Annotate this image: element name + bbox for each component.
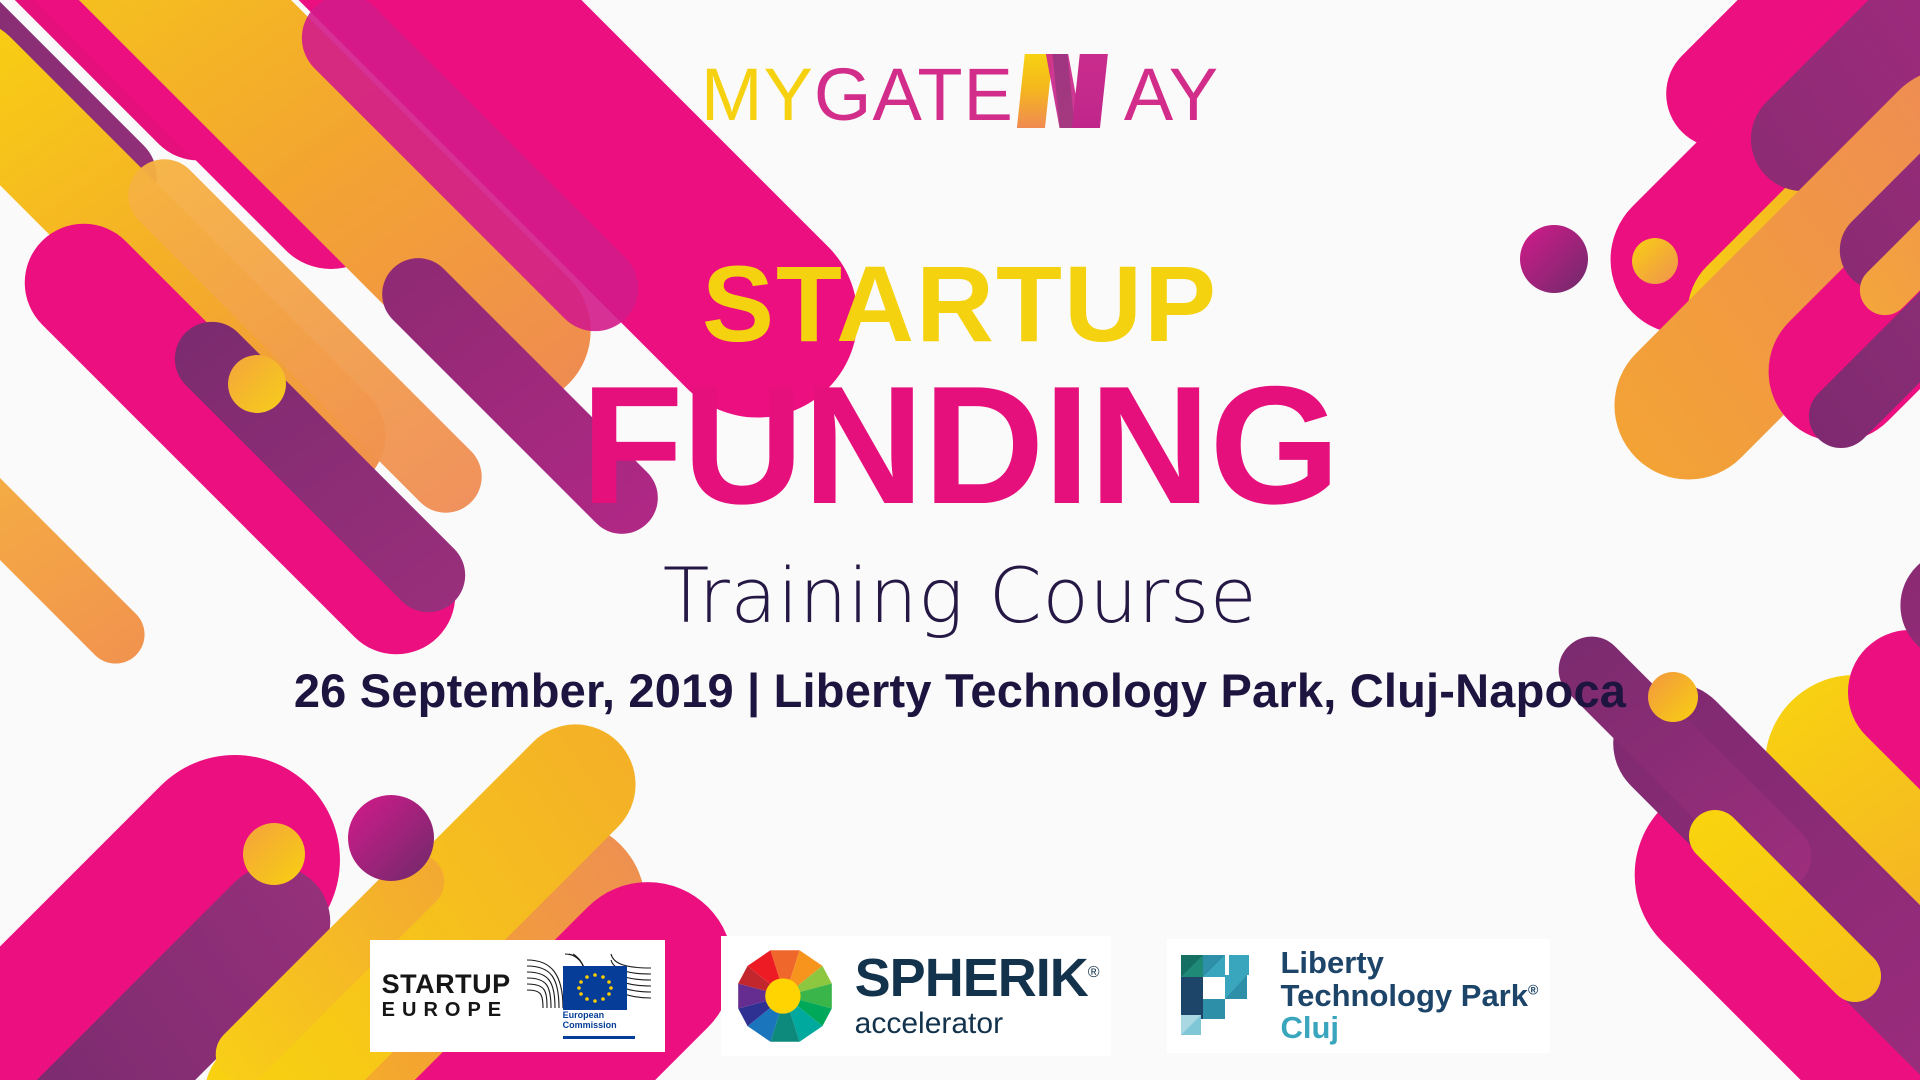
spherik-name-text: SPHERIK	[855, 948, 1088, 1008]
ec-caption-line2: Commission	[563, 1020, 637, 1030]
sponsor-strip: STARTUP EUROPE	[0, 936, 1920, 1056]
event-details: 26 September, 2019 | Liberty Technology …	[0, 663, 1920, 718]
liberty-line3: Cluj	[1281, 1012, 1539, 1045]
eu-stars-icon	[563, 966, 627, 1010]
liberty-mark-icon	[1179, 953, 1265, 1039]
ec-caption-line1: European	[563, 1010, 637, 1020]
logo-text-gate: GATE	[814, 58, 1014, 132]
startup-europe-line2: EUROPE	[382, 998, 511, 1022]
page-title-line1: STARTUP	[0, 250, 1920, 358]
sponsor-logo-spherik: SPHERIK® accelerator	[721, 936, 1111, 1056]
page-subtitle: Training Course	[0, 554, 1920, 638]
ec-underline	[563, 1036, 635, 1039]
logo-text-ay: AY	[1124, 58, 1219, 132]
startup-europe-line1: STARTUP	[382, 970, 511, 998]
logo-text-my: MY	[701, 58, 814, 132]
spherik-name: SPHERIK®	[855, 951, 1099, 1005]
european-commission-caption: European Commission	[563, 1010, 637, 1031]
sponsor-logo-liberty-technology-park: Liberty Technology Park® Cluj	[1167, 939, 1551, 1054]
spherik-wheel-icon	[733, 944, 837, 1048]
brand-logo: MYGATEAY	[0, 46, 1920, 132]
headline-block: STARTUP FUNDING Training Course 26 Septe…	[0, 250, 1920, 718]
spherik-tagline: accelerator	[855, 1007, 1099, 1041]
liberty-line2-text: Technology Park	[1281, 978, 1529, 1013]
page-title-line2: FUNDING	[0, 366, 1920, 526]
eu-flag-icon	[563, 966, 627, 1010]
logo-letter-w-icon	[1015, 54, 1123, 128]
brand-logo-wordmark: MYGATEAY	[701, 46, 1219, 132]
liberty-line1: Liberty	[1281, 947, 1539, 980]
spherik-registered-mark: ®	[1088, 964, 1099, 981]
liberty-registered-mark: ®	[1528, 981, 1538, 997]
liberty-line2: Technology Park®	[1281, 980, 1539, 1013]
event-banner: MYGATEAY STARTUP FUNDING Training Course…	[0, 0, 1920, 1080]
deco-dot	[243, 823, 305, 885]
european-commission-logo-icon: European Commission	[525, 948, 653, 1044]
deco-dot	[348, 795, 434, 881]
sponsor-logo-startup-europe: STARTUP EUROPE	[370, 940, 665, 1052]
